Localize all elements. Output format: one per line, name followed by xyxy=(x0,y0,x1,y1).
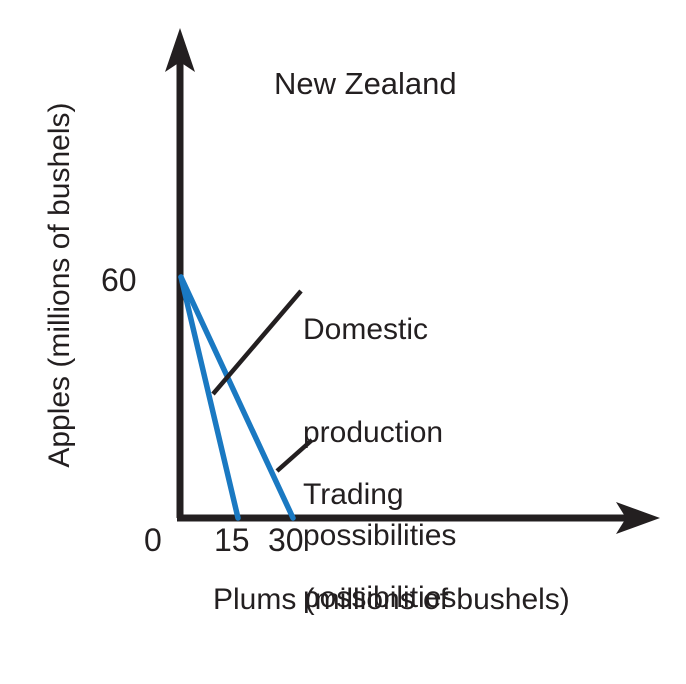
trading-annotation-line-1: Trading xyxy=(303,478,456,512)
trading-possibilities-annotation: Trading possibilities xyxy=(303,410,456,684)
domestic-leader-line xyxy=(213,291,301,394)
x-axis-tick-15: 15 xyxy=(214,522,250,558)
y-axis-label: Apples (millions of bushels) xyxy=(43,65,77,505)
domestic-annotation-line-1: Domestic xyxy=(303,313,456,347)
x-axis-tick-0: 0 xyxy=(144,522,162,558)
trading-annotation-line-2: possibilities xyxy=(303,581,456,615)
y-axis-tick-60: 60 xyxy=(101,262,137,298)
x-axis-tick-30: 30 xyxy=(268,522,304,558)
chart-title: New Zealand xyxy=(274,66,457,101)
domestic-production-possibilities-line xyxy=(181,277,238,518)
y-axis xyxy=(165,28,195,518)
trading-possibilities-line xyxy=(181,277,293,518)
production-possibilities-chart: New Zealand Apples (millions of bushels)… xyxy=(0,0,686,659)
